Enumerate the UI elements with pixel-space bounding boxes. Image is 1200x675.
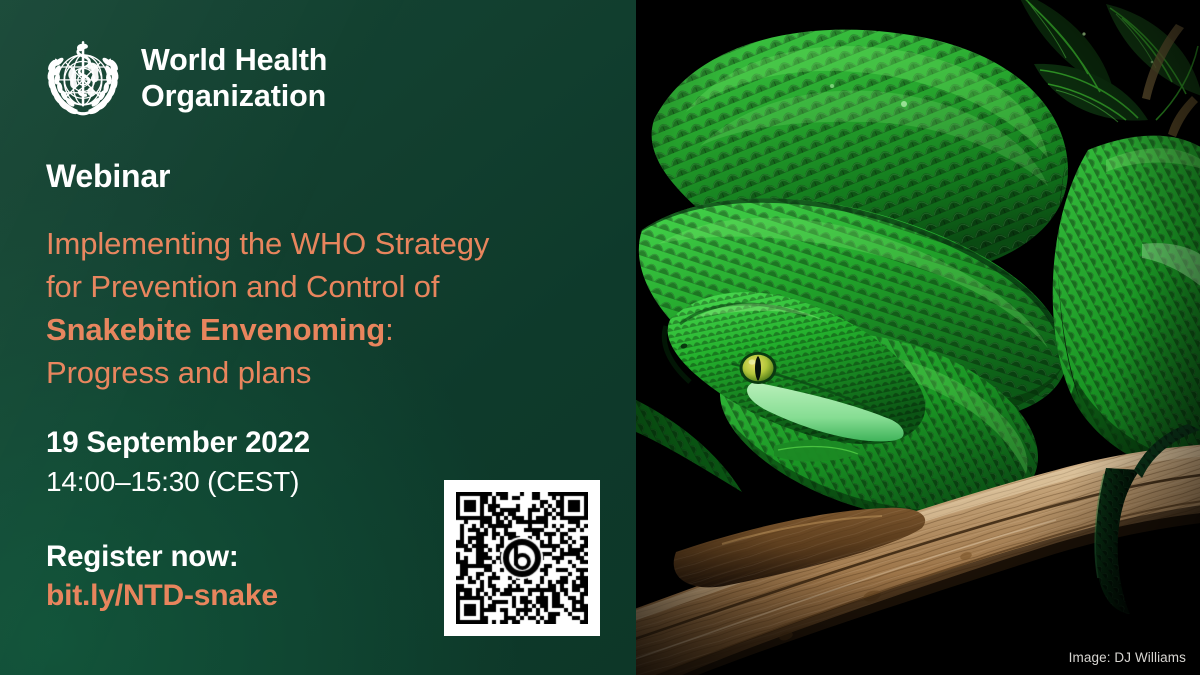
- info-panel: World Health Organization Webinar Implem…: [0, 0, 636, 675]
- image-credit: Image: DJ Williams: [1069, 650, 1186, 665]
- who-logo-lockup: World Health Organization: [40, 36, 327, 122]
- headline-line-4: Progress and plans: [46, 351, 621, 394]
- registration-cta: Register now: bit.ly/NTD-snake: [46, 538, 278, 616]
- register-label: Register now:: [46, 538, 278, 576]
- headline-line-3: Snakebite Envenoming:: [46, 308, 621, 351]
- headline-line-1: Implementing the WHO Strategy: [46, 222, 621, 265]
- who-webinar-poster: World Health Organization Webinar Implem…: [0, 0, 1200, 675]
- registration-qr-code[interactable]: [444, 480, 600, 636]
- bush-viper-illustration: [636, 0, 1200, 675]
- headline-line-2: for Prevention and Control of: [46, 265, 621, 308]
- webinar-kicker: Webinar: [46, 158, 170, 195]
- event-date: 19 September 2022: [46, 424, 310, 462]
- snake-photograph: Image: DJ Williams: [636, 0, 1200, 675]
- headline-colon: :: [385, 312, 394, 347]
- webinar-headline: Implementing the WHO Strategy for Preven…: [46, 222, 621, 394]
- who-emblem-icon: [40, 36, 126, 122]
- event-datetime: 19 September 2022 14:00–15:30 (CEST): [46, 424, 310, 502]
- event-time: 14:00–15:30 (CEST): [46, 462, 310, 502]
- qr-code-canvas[interactable]: [456, 492, 588, 624]
- who-wordmark: World Health Organization: [141, 43, 327, 115]
- headline-emphasis: Snakebite Envenoming: [46, 312, 385, 347]
- register-url-link[interactable]: bit.ly/NTD-snake: [46, 576, 278, 616]
